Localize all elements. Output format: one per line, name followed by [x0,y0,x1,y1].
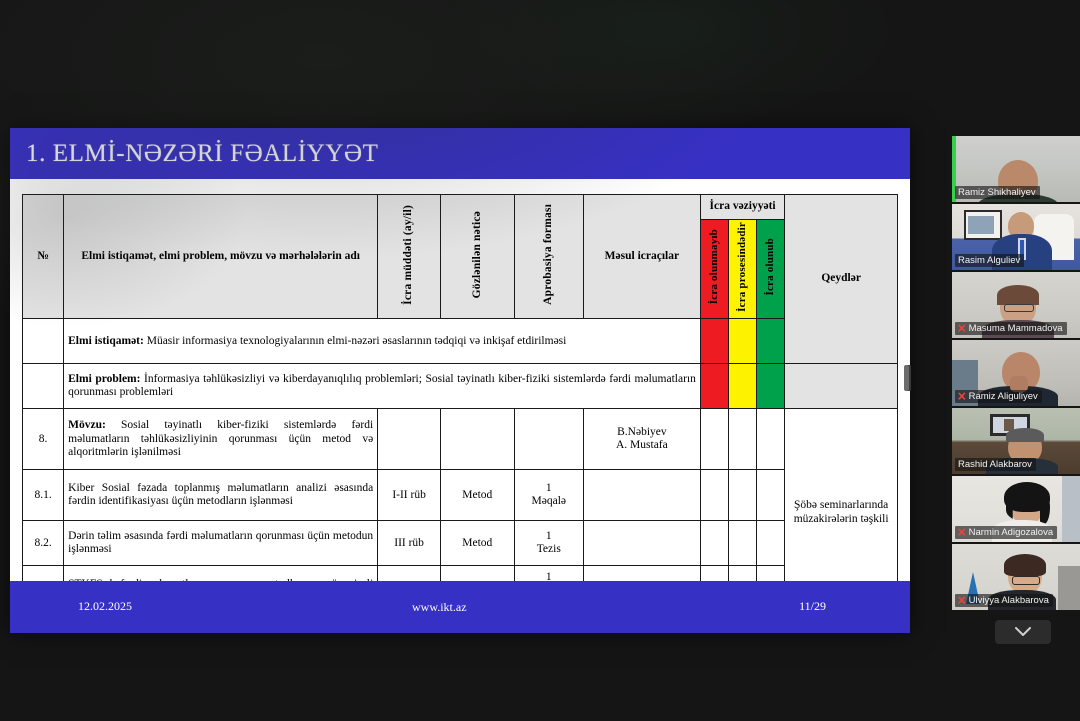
th-status-in-progress: İcra prosesindədir [729,220,757,319]
cell-result: Metod [440,521,514,566]
cell-status-in-progress-topic [729,409,757,470]
table-row: 8.1. Kiber Sosial fəzada toplanmış məlum… [23,470,898,521]
th-aprobation: Aprobasiya forması [514,195,583,319]
th-aprobation-label: Aprobasiya forması [542,204,556,305]
cell-status-done-r2 [757,364,785,409]
direction-lead: Elmi istiqamət: [68,335,144,347]
th-status-done: İcra olunub [757,220,785,319]
mute-icon: 🗙 [958,392,966,402]
presentation-slide: 1. ELMİ-NƏZƏRİ FƏALİYYƏT № Elmi istiqamə… [10,128,910,633]
cell-status-done-r1 [757,319,785,364]
participant-name: Masuma Mammadova [969,323,1063,334]
cell-term-topic [378,409,441,470]
table-row-problem: Elmi problem: İnformasiya təhlükəsizliyi… [23,364,898,409]
participant-name-label: Rasim Alguliev [955,254,1024,267]
cell-number-empty-1 [23,319,64,364]
th-description: Elmi istiqamət, elmi problem, mövzu və m… [64,195,378,319]
cell-problem-text: Elmi problem: İnformasiya təhlükəsizliyi… [64,364,701,409]
cell-number-empty-2 [23,364,64,409]
participant-name-label: Ramiz Shikhaliyev [955,186,1040,199]
participant-name-label: 🗙 Ulviyya Alakbarova [955,594,1053,607]
cell-status-in-progress [729,521,757,566]
mute-icon: 🗙 [958,324,966,334]
cell-status-not-done-r2 [700,364,728,409]
th-status-not-done: İcra olunmayıb [700,220,728,319]
panel-collapse-handle[interactable] [904,365,911,391]
cell-status-in-progress-r2 [729,364,757,409]
participant-name: Rasim Alguliev [958,255,1020,266]
cell-topic-text: Mövzu: Sosial təyinatlı kiber-fiziki sis… [64,409,378,470]
cell-description: Kiber Sosial fəzada toplanmış məlumatlar… [64,470,378,521]
th-status-group: İcra vəziyyəti [700,195,784,220]
participant-name-label: 🗙 Masuma Mammadova [955,322,1067,335]
participant-name-label: Rashid Alakbarov [955,458,1036,471]
cell-status-not-done-r1 [700,319,728,364]
participant-name: Ulviyya Alakbarova [969,595,1049,606]
th-notes: Qeydlər [785,195,898,364]
th-status-not-done-label: İcra olunmayıb [708,229,721,304]
cell-status-done-topic [757,409,785,470]
cell-result: Metod [440,470,514,521]
page-title: 1. ELMİ-NƏZƏRİ FƏALİYYƏT [10,140,379,168]
cell-direction-text: Elmi istiqamət: Müasir informasiya texno… [64,319,701,364]
cell-notes-header-tail [785,364,898,409]
topic-lead: Mövzu: [68,419,106,431]
table-header-row: № Elmi istiqamət, elmi problem, mövzu və… [23,195,898,220]
th-status-done-label: İcra olunub [764,238,777,296]
cell-status-in-progress-r1 [729,319,757,364]
cell-status-not-done [700,521,728,566]
participant-tile[interactable]: Rasim Alguliev [952,204,1080,270]
participant-name-label: 🗙 Ramiz Aliguliyev [955,390,1042,403]
participant-tile[interactable]: 🗙 Ulviyya Alakbarova [952,544,1080,610]
participant-name-label: 🗙 Narmin Adigozalova [955,526,1057,539]
cell-status-not-done-topic [700,409,728,470]
slide-title-bar: 1. ELMİ-NƏZƏRİ FƏALİYYƏT [10,128,910,179]
table-row-topic: 8. Mövzu: Sosial təyinatlı kiber-fiziki … [23,409,898,470]
chevron-down-icon [1015,627,1031,637]
footer-date: 12.02.2025 [78,599,132,614]
cell-executors [583,470,700,521]
cell-status-done [757,470,785,521]
footer-url: www.ikt.az [412,600,467,615]
th-term: İcra müddəti (ay/il) [378,195,441,319]
cell-result-topic [440,409,514,470]
scroll-down-button[interactable] [995,620,1051,644]
th-term-label: İcra müddəti (ay/il) [402,205,416,305]
cell-status-not-done [700,470,728,521]
th-status-in-progress-label: İcra prosesindədir [736,222,749,312]
cell-number-topic: 8. [23,409,64,470]
footer-page-number: 11/29 [799,599,826,614]
mute-icon: 🗙 [958,528,966,538]
participant-tile[interactable]: 🗙 Narmin Adigozalova [952,476,1080,542]
cell-number: 8.2. [23,521,64,566]
participant-video-strip: Ramiz Shikhaliyev Rasim Alguliev [952,136,1080,641]
participant-name: Ramiz Aliguliyev [969,391,1038,402]
slide-footer: 12.02.2025 www.ikt.az 11/29 [10,581,910,633]
cell-term: III rüb [378,521,441,566]
cell-number: 8.1. [23,470,64,521]
cell-executors [583,521,700,566]
th-executors: Məsul icraçılar [583,195,700,319]
th-number: № [23,195,64,319]
cell-term: I-II rüb [378,470,441,521]
th-result: Gözlənilən nəticə [440,195,514,319]
work-plan-table: № Elmi istiqamət, elmi problem, mövzu və… [22,194,898,617]
direction-body: Müasir informasiya texnologiyalarının el… [144,335,567,347]
meeting-room-view: 1. ELMİ-NƏZƏRİ FƏALİYYƏT № Elmi istiqamə… [0,0,1080,721]
participant-tile[interactable]: Ramiz Shikhaliyev [952,136,1080,202]
cell-executors-topic: B.Nəbiyev A. Mustafa [583,409,700,470]
participant-name: Narmin Adigozalova [969,527,1054,538]
participant-name: Ramiz Shikhaliyev [958,187,1036,198]
th-result-label: Gözlənilən nəticə [471,211,485,298]
mute-icon: 🗙 [958,596,966,606]
cell-aprobation: 1 Tezis [514,521,583,566]
problem-body: İnformasiya təhlükəsizliyi və kiberdayan… [68,373,696,399]
participant-tile[interactable]: Rashid Alakbarov [952,408,1080,474]
cell-aprobation-topic [514,409,583,470]
participant-tile[interactable]: 🗙 Masuma Mammadova [952,272,1080,338]
topic-body: Sosial təyinatlı kiber-fiziki sistemlərd… [68,419,373,458]
cell-aprobation: 1 Məqalə [514,470,583,521]
problem-lead: Elmi problem: [68,373,140,385]
table-row: 8.2. Dərin təlim əsasında fərdi məlumatl… [23,521,898,566]
participant-name: Rashid Alakbarov [958,459,1032,470]
cell-description: Dərin təlim əsasında fərdi məlumatların … [64,521,378,566]
table-row-direction: Elmi istiqamət: Müasir informasiya texno… [23,319,898,364]
participant-tile[interactable]: 🗙 Ramiz Aliguliyev [952,340,1080,406]
cell-status-done [757,521,785,566]
cell-status-in-progress [729,470,757,521]
